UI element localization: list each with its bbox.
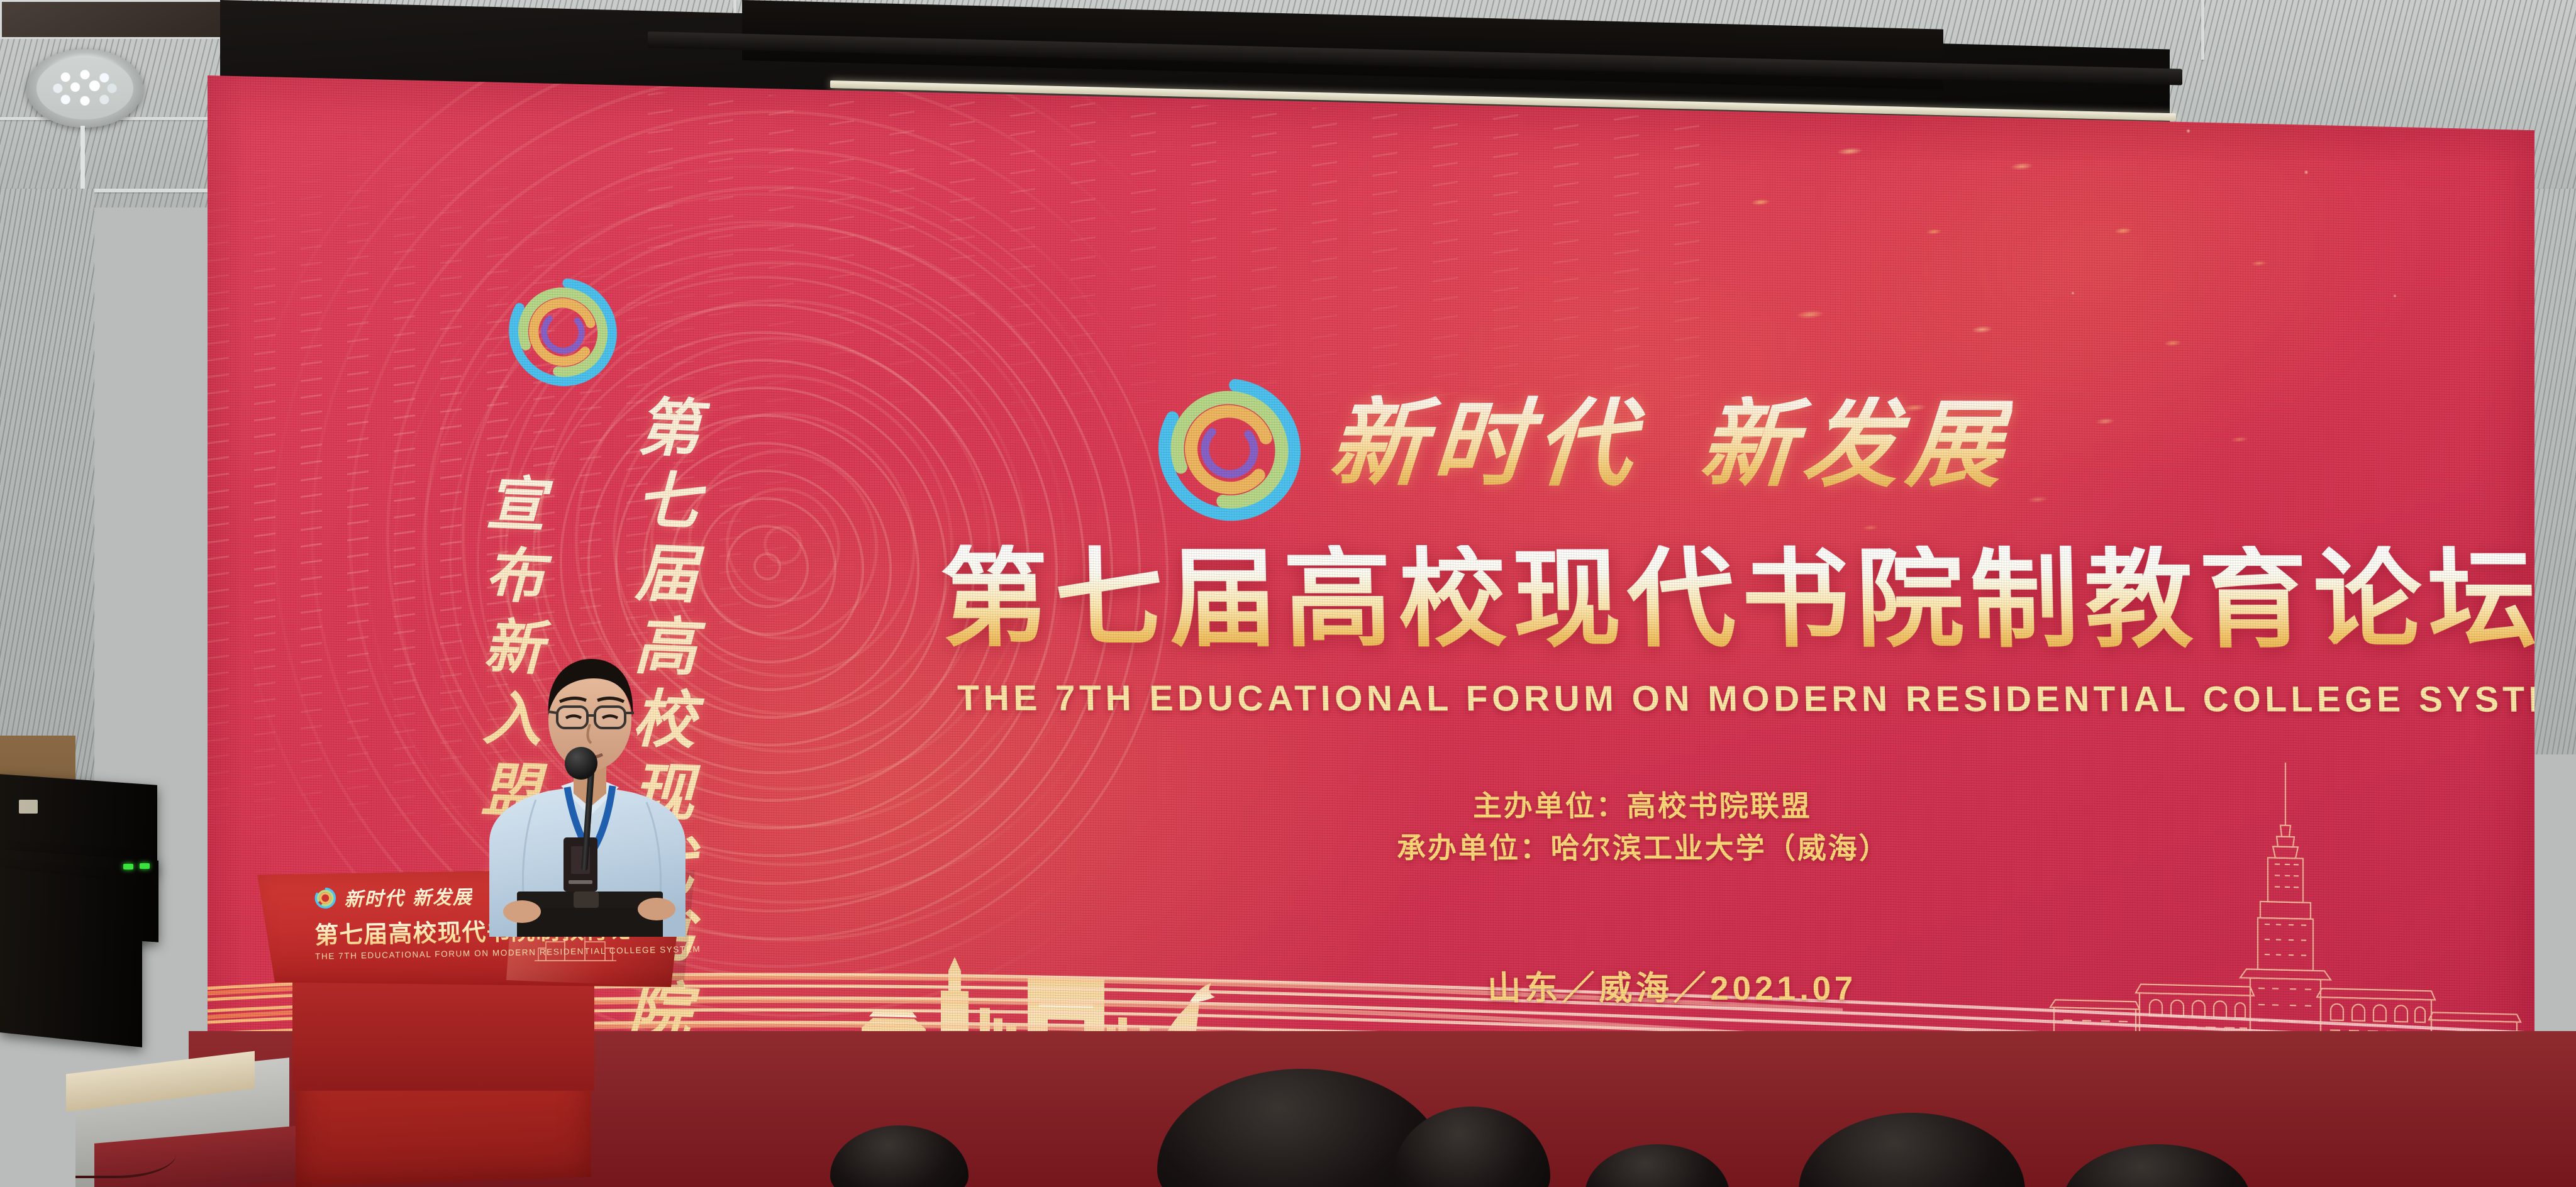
loudspeaker-sub xyxy=(0,868,142,1047)
led-main-title: 第七届高校现代书院制教育论坛 xyxy=(939,544,2534,654)
photo-canvas: 新时代新发展 第七届高校现代书院制教育论坛 THE 7TH EDUCATIONA… xyxy=(0,0,2576,1187)
microphone-icon xyxy=(565,747,597,780)
slogan-left: 新时代 xyxy=(1326,387,1643,500)
ceiling-seam xyxy=(80,126,85,192)
podium-ring-logo-icon xyxy=(314,886,337,910)
forum-ring-logo-small xyxy=(503,271,623,393)
host-line: 承办单位：哈尔滨工业大学（威海） xyxy=(1396,827,1890,869)
place-date-line: 山东／威海／2021.07 xyxy=(1487,962,1857,1010)
podium-slogan: 新时代 新发展 xyxy=(344,881,473,912)
loudspeaker-label xyxy=(19,800,38,814)
organizer-block: 主办单位：高校书院联盟 承办单位：哈尔滨工业大学（威海） xyxy=(1396,785,1890,869)
loudspeaker-signal-led xyxy=(140,863,150,869)
ceiling-vent-panel xyxy=(0,0,248,39)
forum-ring-logo xyxy=(1151,369,1308,530)
loudspeaker-power-led xyxy=(123,864,133,870)
led-slogan: 新时代新发展 xyxy=(1326,395,2013,492)
podium-column xyxy=(292,978,594,1091)
organizer-line: 主办单位：高校书院联盟 xyxy=(1396,785,1889,827)
slogan-right: 新发展 xyxy=(1696,387,2014,500)
ceiling-downlight-icon xyxy=(26,49,143,128)
led-sub-title: THE 7TH EDUCATIONAL FORUM ON MODERN RESI… xyxy=(957,678,2534,720)
ceiling-seam xyxy=(2201,0,2204,60)
